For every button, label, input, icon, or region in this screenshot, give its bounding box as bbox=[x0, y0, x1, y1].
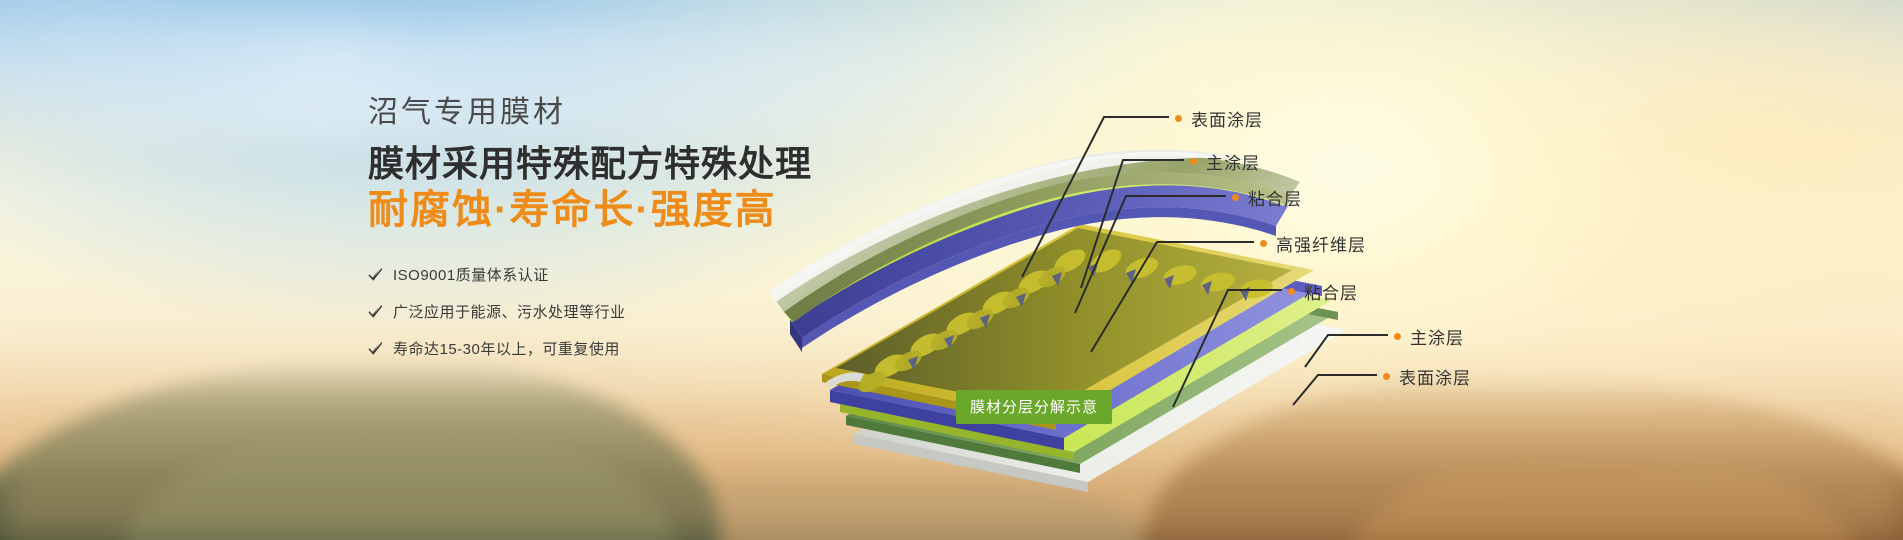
callout-label: 主涂层 bbox=[1410, 324, 1464, 349]
bullet-dot-icon bbox=[1175, 115, 1182, 122]
callout-label: 表面涂层 bbox=[1399, 364, 1471, 389]
callout-label: 高强纤维层 bbox=[1276, 231, 1366, 256]
bullet-dot-icon bbox=[1232, 194, 1239, 201]
callout-label: 粘合层 bbox=[1304, 279, 1358, 304]
callout-top-surface-coat: 表面涂层 bbox=[1175, 106, 1263, 131]
bullet-dot-icon bbox=[1190, 158, 1197, 165]
callout-label: 主涂层 bbox=[1206, 149, 1260, 174]
callout-fiber: 高强纤维层 bbox=[1260, 231, 1366, 256]
callout-bottom-surface: 表面涂层 bbox=[1383, 364, 1471, 389]
bullet-dot-icon bbox=[1383, 373, 1390, 380]
callout-top-adhesive: 粘合层 bbox=[1232, 185, 1302, 210]
callout-labels: 表面涂层 主涂层 粘合层 高强纤维层 粘合层 主涂层 表面涂层 bbox=[0, 0, 1903, 540]
bullet-dot-icon bbox=[1394, 333, 1401, 340]
callout-label: 粘合层 bbox=[1248, 185, 1302, 210]
diagram-caption-badge: 膜材分层分解示意 bbox=[956, 390, 1112, 424]
callout-top-main-coat: 主涂层 bbox=[1190, 149, 1260, 174]
callout-bottom-main-coat: 主涂层 bbox=[1394, 324, 1464, 349]
callout-bottom-adhesive: 粘合层 bbox=[1288, 279, 1358, 304]
promo-banner: 沼气专用膜材 膜材采用特殊配方特殊处理 耐腐蚀·寿命长·强度高 ISO9001质… bbox=[0, 0, 1903, 540]
bullet-dot-icon bbox=[1288, 288, 1295, 295]
bullet-dot-icon bbox=[1260, 240, 1267, 247]
callout-label: 表面涂层 bbox=[1191, 106, 1263, 131]
